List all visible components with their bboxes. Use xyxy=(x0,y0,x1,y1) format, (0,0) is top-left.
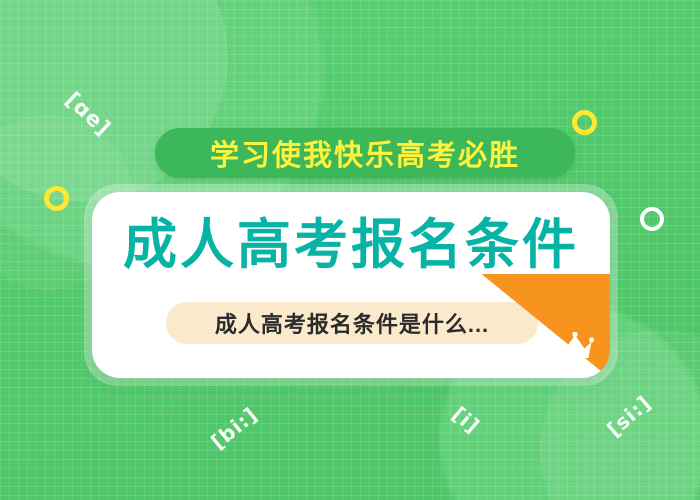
main-card: 成人高考报名条件 成人高考报名条件是什么... xyxy=(92,192,610,378)
card-corner-accent xyxy=(482,274,610,378)
decor-ring-white-right xyxy=(640,207,664,231)
decor-ring-yellow-right xyxy=(572,110,597,135)
slogan-banner-text: 学习使我快乐高考必胜 xyxy=(210,132,520,174)
slogan-banner: 学习使我快乐高考必胜 xyxy=(155,128,575,178)
crown-icon xyxy=(556,332,594,362)
page-title: 成人高考报名条件 xyxy=(92,218,610,272)
poster-canvas: [ɑe] [bi:] [i] [si:] 学习使我快乐高考必胜 成人高考报名条件… xyxy=(0,0,700,500)
subtitle-text: 成人高考报名条件是什么... xyxy=(215,307,489,339)
decor-ring-yellow-left xyxy=(44,186,69,211)
